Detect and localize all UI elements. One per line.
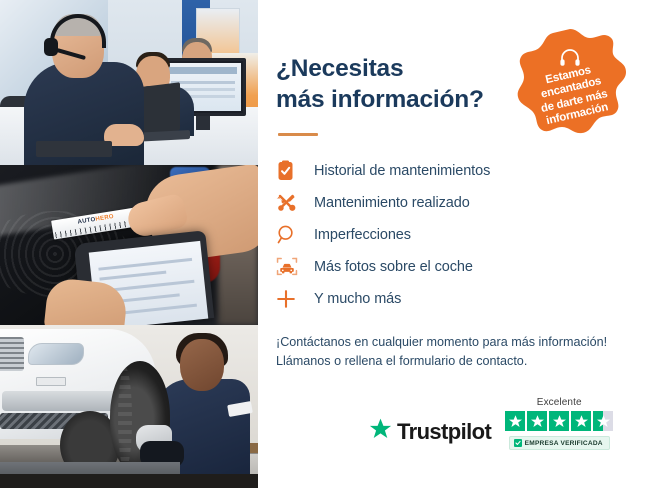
promo-card: AUTOHERO <box>0 0 650 488</box>
feature-item-much-more[interactable]: Y mucho más <box>276 283 650 315</box>
photo-keyboard <box>36 141 112 157</box>
trustpilot-star-icon <box>368 417 393 446</box>
photo-car-bumper <box>2 391 126 411</box>
verified-company-badge: EMPRESA VERIFICADA <box>509 436 610 450</box>
star-5-half <box>593 411 613 431</box>
photo-headset-earcup <box>44 38 58 56</box>
photo-car-plate <box>36 377 66 386</box>
photo-column: AUTOHERO <box>0 0 258 488</box>
promo-badge: Estamos encantados de darte más informac… <box>514 27 626 139</box>
feature-label: Y mucho más <box>306 291 401 307</box>
title-divider <box>278 133 318 136</box>
plus-icon <box>276 289 306 309</box>
feature-label: Imperfecciones <box>306 227 411 243</box>
verified-check-icon <box>514 439 522 447</box>
trustpilot-rating: Excelente <box>505 397 613 450</box>
photo-workshop-floor <box>0 474 258 488</box>
trustpilot-logo[interactable]: Trustpilot <box>368 417 491 450</box>
verified-label: EMPRESA VERIFICADA <box>525 440 603 447</box>
feature-item-imperfections[interactable]: Imperfecciones <box>276 219 650 251</box>
star-4 <box>571 411 591 431</box>
rating-label: Excelente <box>537 397 582 408</box>
feature-label: Mantenimiento realizado <box>306 195 470 211</box>
feature-item-maintenance-history[interactable]: Historial de mantenimientos <box>276 155 650 187</box>
tools-cross-icon <box>276 192 306 213</box>
feature-label: Más fotos sobre el coche <box>306 259 473 275</box>
star-2 <box>527 411 547 431</box>
car-inspection-ruler-photo: AUTOHERO <box>0 165 258 325</box>
star-3 <box>549 411 569 431</box>
clipboard-check-icon <box>276 160 306 182</box>
feature-item-maintenance-done[interactable]: Mantenimiento realizado <box>276 187 650 219</box>
ruler-logo-suffix: HERO <box>95 214 114 223</box>
star-rating[interactable] <box>505 411 613 431</box>
call-center-agents-photo <box>0 0 258 165</box>
magnifier-icon <box>276 224 306 245</box>
photo-car-headlight <box>28 343 84 365</box>
contact-footnote: ¡Contáctanos en cualquier momento para m… <box>276 333 650 372</box>
mechanic-wheel-photo <box>0 325 258 488</box>
trustpilot-wordmark: Trustpilot <box>397 419 491 445</box>
trustpilot-block[interactable]: Trustpilot Excelente <box>368 397 613 450</box>
feature-list: Historial de mantenimientos M <box>276 155 650 315</box>
ruler-logo-prefix: AUTO <box>77 217 96 226</box>
photo-car-grille <box>0 337 24 371</box>
photo-mechanic-head <box>180 339 224 391</box>
content-panel: ¿Necesitas más información? Historial de… <box>258 0 650 488</box>
feature-label: Historial de mantenimientos <box>306 163 490 179</box>
feature-item-more-photos[interactable]: Más fotos sobre el coche <box>276 251 650 283</box>
star-1 <box>505 411 525 431</box>
car-scan-icon <box>276 256 306 277</box>
photo-monitor-stand <box>196 116 210 130</box>
